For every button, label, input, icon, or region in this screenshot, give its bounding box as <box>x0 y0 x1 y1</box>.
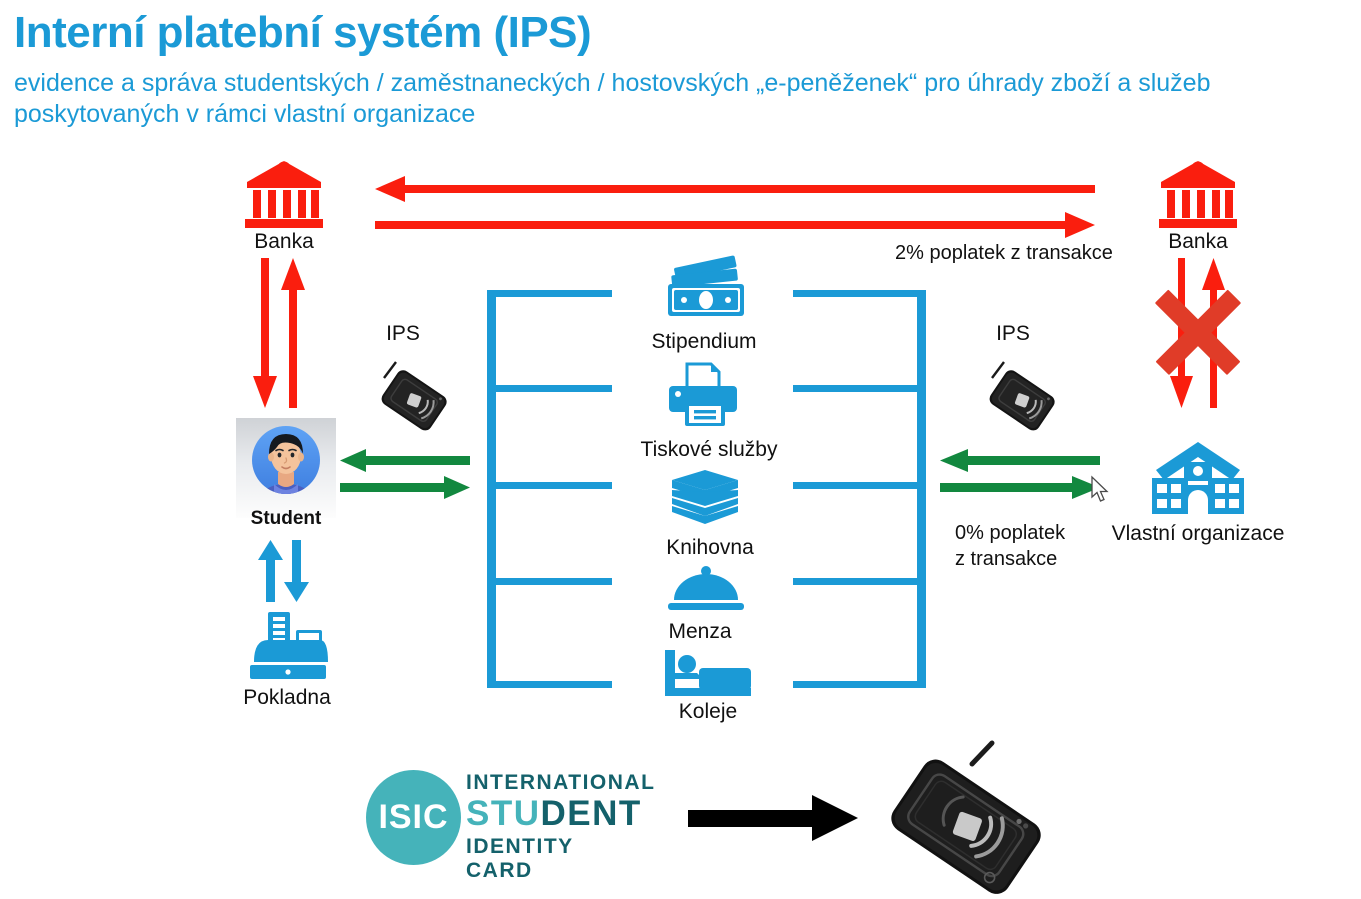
red-cross-icon <box>1155 290 1241 376</box>
bank-icon <box>245 160 323 230</box>
mouse-cursor <box>1092 477 1112 505</box>
food-cloche-icon <box>668 564 744 612</box>
isic-line-student: STUDENT <box>466 794 642 834</box>
student-service-arrows <box>340 448 470 500</box>
page-title: Interní platební systém (IPS) <box>14 8 591 58</box>
interbank-arrow-left <box>375 176 1095 202</box>
ips-right-label: IPS <box>968 322 1058 346</box>
bank-icon <box>1159 160 1237 230</box>
arrow-down-bank-to-student <box>253 258 277 408</box>
student-pokladna-arrows <box>258 540 314 602</box>
right-bracket <box>793 290 926 688</box>
isic-line-identity-card: IDENTITY CARD <box>466 835 621 883</box>
right-bracket-rung <box>793 290 926 297</box>
blue-arrow-down <box>284 540 309 602</box>
interbank-arrow-right <box>375 212 1095 238</box>
isic-student-part2: DENT <box>541 794 642 833</box>
isic-logo: ISIC INTERNATIONAL STUDENT IDENTITY CARD <box>366 765 621 870</box>
right-bracket-spine <box>917 290 926 688</box>
right-bracket-rung <box>793 578 926 585</box>
left-bracket-rung <box>487 578 612 585</box>
fee-internal-label: 0% poplatek z transakce <box>955 520 1065 572</box>
organization-label: Vlastní organizace <box>1098 522 1298 546</box>
page-subtitle: evidence a správa studentských / zaměstn… <box>14 68 1354 131</box>
left-bracket-rung <box>487 290 612 297</box>
service-label-menza: Menza <box>620 620 780 644</box>
right-bracket-rung <box>793 681 926 688</box>
student-label: Student <box>226 508 346 530</box>
isic-line-international: INTERNATIONAL <box>466 771 655 795</box>
cash-register-icon <box>246 612 328 682</box>
blue-arrow-up <box>258 540 283 602</box>
interbank-arrows <box>375 176 1095 238</box>
isic-circle-text: ISIC <box>366 770 461 865</box>
slide-canvas: Interní platební systém (IPS) evidence a… <box>0 0 1361 899</box>
banknote-icon <box>658 258 750 320</box>
fee-bank-label: 2% poplatek z transakce <box>895 240 1113 266</box>
ips-left-label: IPS <box>358 322 448 346</box>
fee-internal-line1: 0% poplatek <box>955 520 1065 546</box>
bed-icon <box>665 650 751 700</box>
left-bracket-rung <box>487 482 612 489</box>
left-bracket <box>487 290 612 688</box>
bank-right-label: Banka <box>1138 230 1258 254</box>
card-to-reader-arrow <box>688 795 858 841</box>
service-label-stipendium: Stipendium <box>604 330 804 354</box>
arrow-up-student-to-bank <box>281 258 305 408</box>
left-bracket-rung <box>487 385 612 392</box>
green-arrow-right-org-outbound <box>940 476 1100 499</box>
isic-student-part1: STU <box>466 794 541 833</box>
org-service-arrows <box>940 448 1100 500</box>
isic-circle-badge: ISIC <box>366 770 461 865</box>
service-label-tiskove: Tiskové služby <box>604 438 814 462</box>
nfc-reader-icon <box>372 358 454 436</box>
green-arrow-left-inbound <box>340 449 470 472</box>
left-bracket-rung <box>487 681 612 688</box>
bank-left-label: Banka <box>224 230 344 254</box>
student-avatar-icon <box>236 418 336 518</box>
printer-icon <box>665 362 741 428</box>
nfc-reader-icon <box>980 358 1062 436</box>
books-icon <box>668 468 742 526</box>
school-building-icon <box>1148 440 1248 516</box>
fee-internal-line2: z transakce <box>955 546 1065 572</box>
green-arrow-left-org-inbound <box>940 449 1100 472</box>
right-bracket-rung <box>793 482 926 489</box>
green-arrow-right-outbound <box>340 476 470 499</box>
right-bracket-rung <box>793 385 926 392</box>
nfc-reader-icon <box>880 740 1055 890</box>
pokladna-label: Pokladna <box>227 686 347 710</box>
bank-student-arrows <box>253 258 309 408</box>
left-bracket-spine <box>487 290 496 688</box>
service-label-koleje: Koleje <box>628 700 788 724</box>
blocked-bank-connection <box>1135 258 1265 408</box>
service-label-knihovna: Knihovna <box>620 536 800 560</box>
